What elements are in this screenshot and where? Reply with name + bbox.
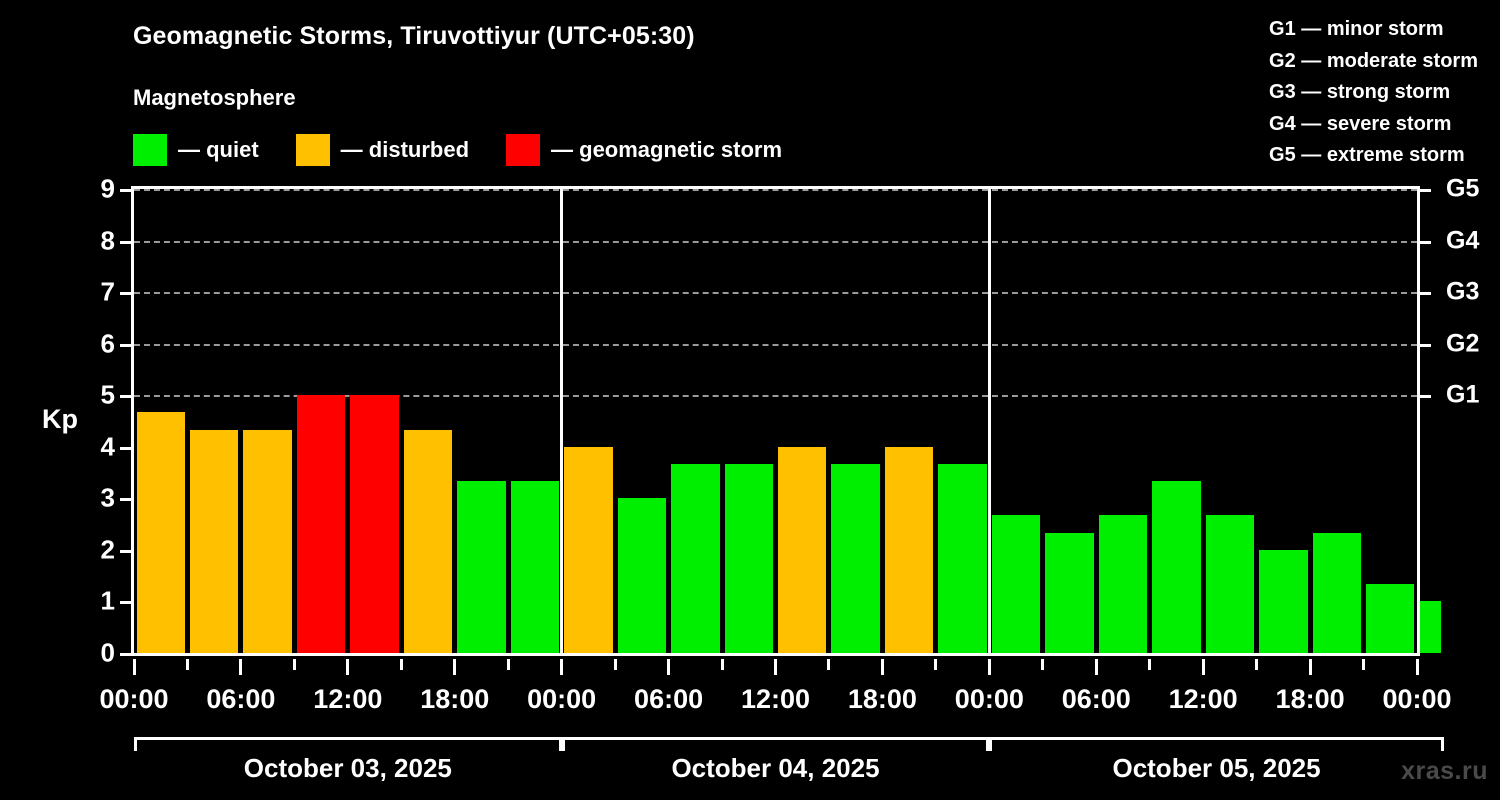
chart-canvas: Geomagnetic Storms, Tiruvottiyur (UTC+05… xyxy=(0,0,1500,800)
bar-5[interactable] xyxy=(404,430,452,653)
x-tick-3 xyxy=(293,659,296,670)
x-tick-label-3: 18:00 xyxy=(420,684,489,715)
bar-18[interactable] xyxy=(1099,515,1147,653)
bar-24[interactable] xyxy=(1420,601,1442,653)
legend-swatch-quiet-icon xyxy=(133,134,167,166)
x-tick-label-8: 00:00 xyxy=(955,684,1024,715)
bar-2[interactable] xyxy=(243,430,291,653)
bar-12[interactable] xyxy=(778,447,826,653)
date-bracket-2 xyxy=(562,737,990,751)
x-tick-0 xyxy=(133,659,136,675)
x-tick-label-7: 18:00 xyxy=(848,684,917,715)
y-tick-0 xyxy=(120,653,131,656)
y-axis-title: Kp xyxy=(42,404,78,435)
g-axis-label-G4: G4 xyxy=(1446,226,1479,255)
gridline-kp-7 xyxy=(134,292,1417,294)
y-tick-label-5: 5 xyxy=(75,380,115,411)
x-tick-13 xyxy=(827,659,830,670)
y-tick-label-4: 4 xyxy=(75,431,115,462)
x-tick-label-0: 00:00 xyxy=(99,684,168,715)
x-tick-16 xyxy=(988,659,991,675)
x-tick-2 xyxy=(239,659,242,675)
page-title: Geomagnetic Storms, Tiruvottiyur (UTC+05… xyxy=(133,22,695,51)
g-scale-line-3: G3 — strong storm xyxy=(1269,77,1478,109)
x-tick-20 xyxy=(1202,659,1205,675)
bar-22[interactable] xyxy=(1313,533,1361,653)
g-scale-legend: G1 — minor stormG2 — moderate stormG3 — … xyxy=(1269,14,1478,172)
x-tick-22 xyxy=(1309,659,1312,675)
day-separator-2 xyxy=(988,189,991,653)
date-label-3: October 05, 2025 xyxy=(1112,753,1320,784)
y-tick-label-2: 2 xyxy=(75,534,115,565)
bar-7[interactable] xyxy=(511,481,559,653)
gridline-kp-9 xyxy=(134,189,1417,191)
bar-21[interactable] xyxy=(1259,550,1307,653)
legend-item-disturbed: — disturbed xyxy=(296,134,469,166)
date-label-2: October 04, 2025 xyxy=(671,753,879,784)
x-tick-label-4: 00:00 xyxy=(527,684,596,715)
bar-17[interactable] xyxy=(1045,533,1093,653)
x-tick-6 xyxy=(453,659,456,675)
x-tick-9 xyxy=(614,659,617,670)
x-tick-7 xyxy=(507,659,510,670)
x-tick-8 xyxy=(560,659,563,675)
y-tick-label-6: 6 xyxy=(75,328,115,359)
x-tick-label-2: 12:00 xyxy=(313,684,382,715)
y-tick-1 xyxy=(120,601,131,604)
legend-label-quiet: — quiet xyxy=(178,137,259,163)
y-tick-2 xyxy=(120,550,131,553)
g-tick-G5 xyxy=(1420,189,1431,192)
y-tick-label-8: 8 xyxy=(75,225,115,256)
y-tick-label-1: 1 xyxy=(75,586,115,617)
g-scale-line-4: G4 — severe storm xyxy=(1269,109,1478,141)
bar-20[interactable] xyxy=(1206,515,1254,653)
x-tick-12 xyxy=(774,659,777,675)
legend-label-storm: — geomagnetic storm xyxy=(551,137,782,163)
bar-19[interactable] xyxy=(1152,481,1200,653)
bar-10[interactable] xyxy=(671,464,719,653)
y-tick-6 xyxy=(120,344,131,347)
y-tick-4 xyxy=(120,447,131,450)
x-tick-label-5: 06:00 xyxy=(634,684,703,715)
x-tick-label-10: 12:00 xyxy=(1169,684,1238,715)
x-tick-15 xyxy=(934,659,937,670)
g-tick-G3 xyxy=(1420,292,1431,295)
g-axis-label-G5: G5 xyxy=(1446,175,1479,204)
bar-3[interactable] xyxy=(297,395,345,653)
date-bracket-1 xyxy=(134,737,562,751)
legend-item-storm: — geomagnetic storm xyxy=(506,134,782,166)
g-scale-line-2: G2 — moderate storm xyxy=(1269,46,1478,78)
x-tick-4 xyxy=(346,659,349,675)
legend: — quiet— disturbed— geomagnetic storm xyxy=(133,133,782,167)
x-tick-10 xyxy=(667,659,670,675)
x-tick-label-9: 06:00 xyxy=(1062,684,1131,715)
date-label-1: October 03, 2025 xyxy=(244,753,452,784)
g-tick-G1 xyxy=(1420,395,1431,398)
x-tick-17 xyxy=(1041,659,1044,670)
y-tick-8 xyxy=(120,241,131,244)
legend-label-disturbed: — disturbed xyxy=(341,137,469,163)
day-separator-1 xyxy=(560,189,563,653)
x-tick-5 xyxy=(400,659,403,670)
y-tick-label-3: 3 xyxy=(75,483,115,514)
bar-14[interactable] xyxy=(885,447,933,653)
y-tick-label-0: 0 xyxy=(75,638,115,669)
magnetosphere-label: Magnetosphere xyxy=(133,85,296,111)
g-scale-line-1: G1 — minor storm xyxy=(1269,14,1478,46)
bar-23[interactable] xyxy=(1366,584,1414,653)
x-tick-11 xyxy=(721,659,724,670)
g-axis-label-G1: G1 xyxy=(1446,381,1479,410)
bar-13[interactable] xyxy=(831,464,879,653)
x-tick-18 xyxy=(1095,659,1098,675)
x-tick-label-6: 12:00 xyxy=(741,684,810,715)
g-scale-line-5: G5 — extreme storm xyxy=(1269,140,1478,172)
x-tick-21 xyxy=(1255,659,1258,670)
y-tick-7 xyxy=(120,292,131,295)
y-tick-label-9: 9 xyxy=(75,174,115,205)
date-bracket-3 xyxy=(989,737,1443,751)
x-tick-label-12: 00:00 xyxy=(1382,684,1451,715)
bar-0[interactable] xyxy=(137,412,185,653)
y-tick-label-7: 7 xyxy=(75,277,115,308)
gridline-kp-6 xyxy=(134,344,1417,346)
bar-16[interactable] xyxy=(992,515,1040,653)
g-tick-G4 xyxy=(1420,241,1431,244)
gridline-kp-8 xyxy=(134,241,1417,243)
x-tick-1 xyxy=(186,659,189,670)
x-tick-19 xyxy=(1148,659,1151,670)
legend-swatch-disturbed-icon xyxy=(296,134,330,166)
x-tick-23 xyxy=(1362,659,1365,670)
y-tick-9 xyxy=(120,189,131,192)
plot-area xyxy=(134,189,1417,653)
bar-6[interactable] xyxy=(457,481,505,653)
x-tick-24 xyxy=(1416,659,1419,675)
bar-15[interactable] xyxy=(938,464,986,653)
g-axis-label-G2: G2 xyxy=(1446,329,1479,358)
bar-8[interactable] xyxy=(564,447,612,653)
g-tick-G2 xyxy=(1420,344,1431,347)
bar-9[interactable] xyxy=(618,498,666,653)
g-axis-label-G3: G3 xyxy=(1446,278,1479,307)
y-tick-3 xyxy=(120,498,131,501)
watermark: xras.ru xyxy=(1401,757,1488,786)
bar-11[interactable] xyxy=(725,464,773,653)
x-tick-label-1: 06:00 xyxy=(206,684,275,715)
x-tick-14 xyxy=(881,659,884,675)
bar-1[interactable] xyxy=(190,430,238,653)
legend-swatch-storm-icon xyxy=(506,134,540,166)
y-tick-5 xyxy=(120,395,131,398)
x-tick-label-11: 18:00 xyxy=(1276,684,1345,715)
bar-4[interactable] xyxy=(350,395,398,653)
legend-item-quiet: — quiet xyxy=(133,134,259,166)
